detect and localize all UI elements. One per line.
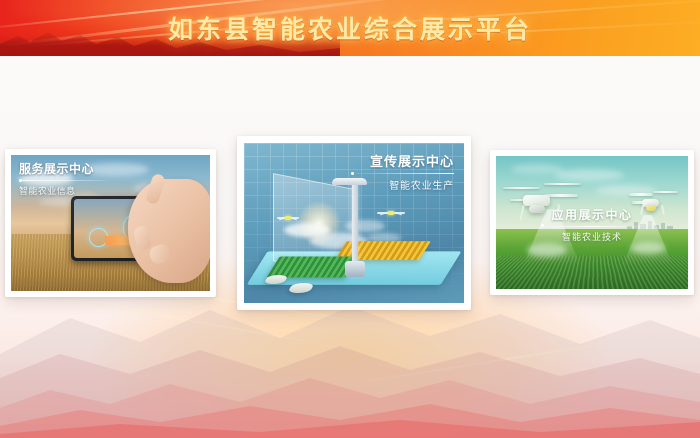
card-application-caption: 应用展示中心 智能农业技术 xyxy=(496,206,688,243)
card-promotion[interactable]: 宣传展示中心 智能农业生产 xyxy=(237,136,471,310)
card-promotion-photo: 宣传展示中心 智能农业生产 xyxy=(244,143,464,303)
card-promotion-subtitle: 智能农业生产 xyxy=(356,177,454,192)
card-service-title: 服务展示中心 xyxy=(19,160,105,177)
card-application-subtitle: 智能农业技术 xyxy=(496,230,688,243)
caption-divider xyxy=(540,226,644,227)
card-service[interactable]: 服务展示中心 智能农业信息 xyxy=(5,149,216,297)
card-application[interactable]: 应用展示中心 智能农业技术 xyxy=(490,150,694,295)
caption-dot xyxy=(19,179,22,182)
platform-page: 如东县智能农业综合展示平台 xyxy=(0,0,700,438)
card-service-photo: 服务展示中心 智能农业信息 xyxy=(11,155,210,291)
card-application-photo: 应用展示中心 智能农业技术 xyxy=(496,156,688,289)
iot-lamp-base xyxy=(345,261,365,277)
card-promotion-title: 宣传展示中心 xyxy=(356,151,454,170)
iot-lamp-pole xyxy=(352,180,358,263)
drone-icon xyxy=(279,213,297,223)
page-title-text: 如东县智能农业综合展示平台 xyxy=(168,10,532,46)
cloud xyxy=(511,164,563,174)
caption-dot xyxy=(351,172,354,175)
card-application-title: 应用展示中心 xyxy=(496,206,688,223)
card-promotion-caption: 宣传展示中心 智能农业生产 xyxy=(356,151,454,192)
card-service-caption: 服务展示中心 智能农业信息 xyxy=(19,160,105,197)
card-service-subtitle: 智能农业信息 xyxy=(19,184,105,197)
page-title: 如东县智能农业综合展示平台 xyxy=(0,0,700,56)
mist xyxy=(527,243,567,257)
drone-icon xyxy=(380,207,402,219)
caption-divider xyxy=(19,180,105,181)
header-banner: 如东县智能农业综合展示平台 xyxy=(0,0,700,56)
caption-dot xyxy=(541,224,544,227)
caption-divider xyxy=(356,173,454,174)
